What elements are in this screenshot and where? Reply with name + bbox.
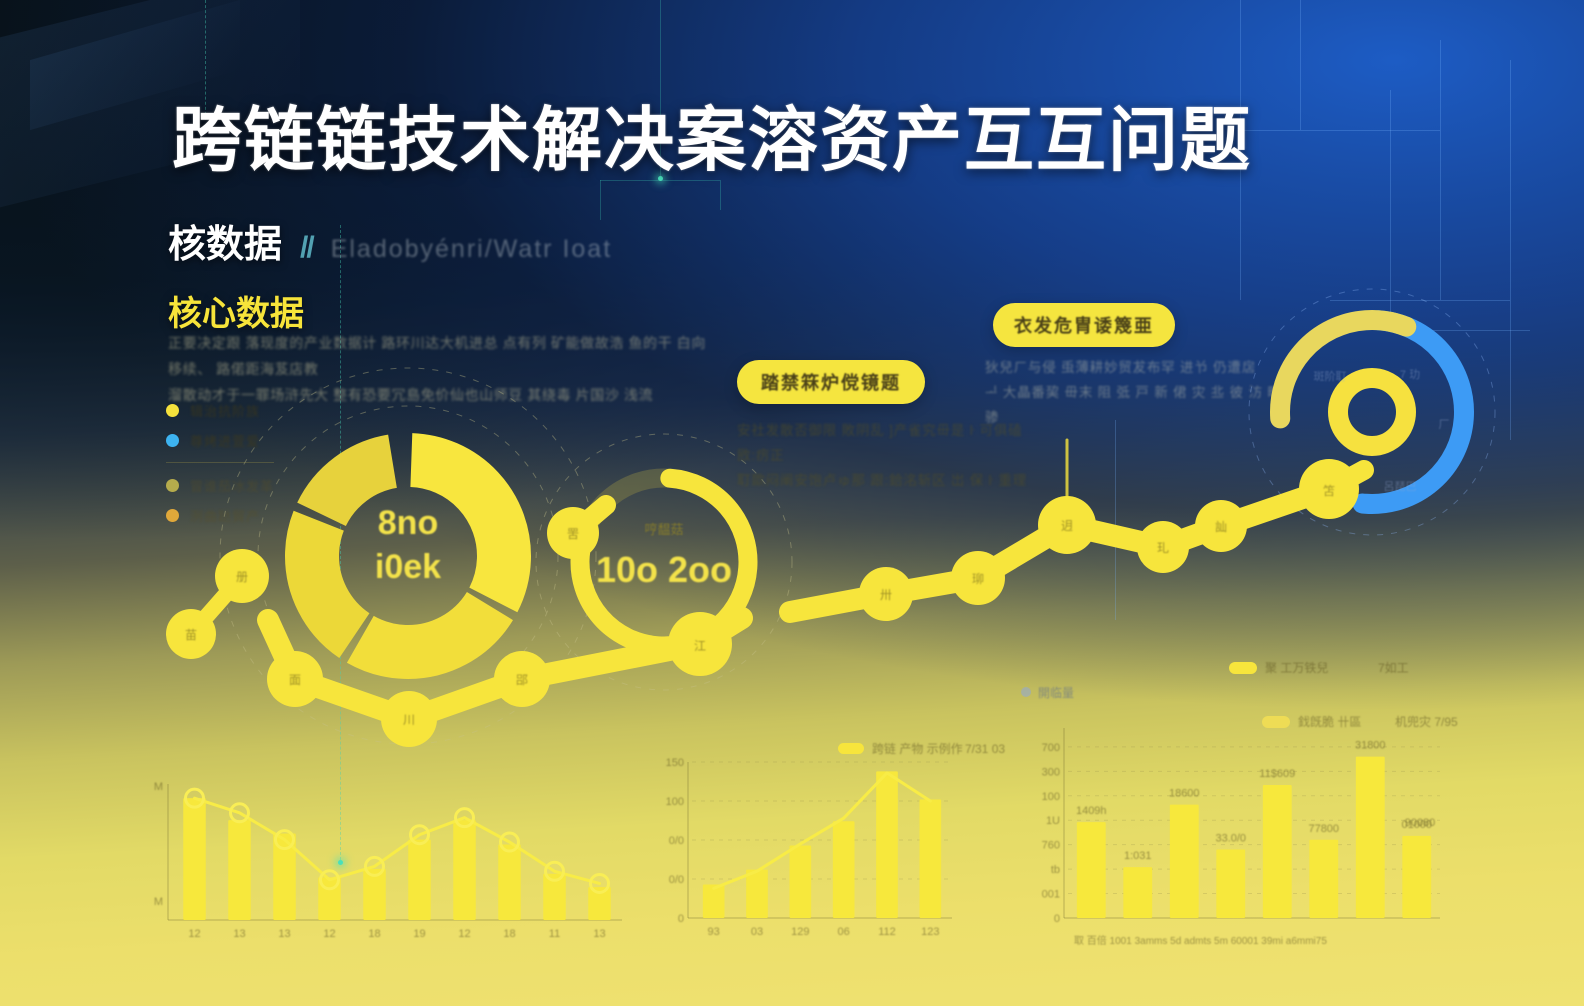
x-tick-label: 06: [838, 926, 850, 938]
y-tick-label: 0: [678, 913, 684, 925]
network-node-glyph: 罟: [567, 527, 579, 541]
corner-marker-icon: [1021, 687, 1031, 697]
network-node-glyph: 卅: [880, 588, 892, 602]
ring-center-value: 10o 2oo: [596, 549, 732, 590]
x-tick-label: 13: [233, 928, 245, 940]
bar-data-label: 31800: [1355, 740, 1386, 752]
gauge-tick-label-0: 斑阶耵: [1314, 369, 1347, 383]
infographic-artwork: 8no i0ek 哼馧菇 10o 2oo 斑阶耵 7 玏 厂 呂琵巴: [0, 0, 1584, 1006]
y-tick-label: 300: [1042, 766, 1060, 778]
asset-share-donut[interactable]: 8no i0ek: [309, 457, 508, 656]
y-tick-label: 1U: [1046, 815, 1060, 827]
y-axis-bottom-label: M: [154, 896, 163, 908]
bar-data-label: 18600: [1169, 788, 1200, 800]
x-tick-label: 123: [921, 926, 939, 938]
network-node-glyph: 訕: [1215, 519, 1227, 534]
bar[interactable]: [1216, 850, 1245, 918]
network-node-glyph: 川: [403, 713, 415, 727]
bar[interactable]: [920, 799, 942, 918]
x-tick-label: 11: [549, 928, 560, 940]
network-node-glyph: 玌: [1157, 541, 1169, 555]
legend-swatch-icon: [1262, 716, 1290, 728]
monthly-volume-combo[interactable]: M M 12131312181912181113: [154, 781, 622, 940]
legend-label-primary: 聚 工万铁兒: [1265, 661, 1328, 675]
corner-label: 開临量: [1038, 686, 1074, 700]
x-tick-label: 12: [458, 928, 470, 940]
network-node-glyph: 笘: [1323, 483, 1335, 498]
network-node-glyph: 苗: [185, 628, 197, 642]
bar[interactable]: [408, 840, 431, 920]
network-node-glyph: 珋: [972, 572, 984, 586]
network-node-glyph: 迌: [1061, 519, 1073, 533]
network-node-glyph: 郘: [516, 673, 528, 687]
bar[interactable]: [1309, 840, 1338, 918]
bar[interactable]: [833, 821, 855, 918]
trend-line: [195, 798, 600, 883]
y-tick-label: tb: [1051, 864, 1060, 876]
x-tick-label: 93: [708, 926, 720, 938]
donut-center-value-2: i0ek: [375, 548, 441, 586]
legend-label: 跨链 产物 示例作: [872, 741, 963, 756]
bar[interactable]: [1123, 867, 1152, 918]
bar[interactable]: [1077, 822, 1106, 918]
bar[interactable]: [453, 820, 476, 920]
network-node-glyph: 册: [236, 570, 248, 584]
bar[interactable]: [498, 844, 521, 920]
y-tick-label: 0/0: [669, 874, 684, 886]
y-tick-label: 150: [666, 757, 684, 769]
donut-center-value-1: 8no: [378, 504, 438, 542]
bar[interactable]: [1263, 785, 1292, 918]
x-tick-label: 03: [751, 926, 763, 938]
network-node-glyph: 江: [694, 639, 706, 653]
bar-data-label: 01000: [1401, 819, 1432, 831]
y-tick-label: 760: [1042, 840, 1060, 852]
bar[interactable]: [1170, 805, 1199, 918]
bar[interactable]: [746, 870, 768, 918]
gauge-tick-label-1: 7 玏: [1400, 367, 1420, 381]
legend-label-secondary: 鈛旣脆 卄區: [1298, 714, 1361, 729]
bar[interactable]: [1402, 836, 1431, 918]
bar[interactable]: [183, 798, 206, 920]
y-tick-label: 100: [1042, 791, 1060, 803]
legend-swatch-icon: [1229, 662, 1257, 674]
x-tick-label: 12: [188, 928, 200, 940]
legend-value-secondary: 机兜灾 7/95: [1395, 714, 1458, 729]
bar-data-label: 1409h: [1076, 805, 1107, 817]
y-tick-label: 0: [1054, 913, 1060, 925]
x-tick-label: 129: [791, 926, 809, 938]
legend-swatch-icon: [838, 743, 864, 754]
bar[interactable]: [790, 845, 812, 918]
x-tick-label: 112: [878, 926, 896, 938]
bar-data-label: 33.0/0: [1215, 833, 1246, 845]
bar-data-label: 77800: [1308, 823, 1339, 835]
gauge-inner-ring: [1338, 378, 1406, 446]
x-tick-label: 13: [278, 928, 290, 940]
bar-data-label: 11$609: [1259, 768, 1295, 780]
footer-note: 取 百倍 1001 3amms 5d admts 5m 60001 39mi a…: [1074, 934, 1327, 947]
x-tick-label: 18: [368, 928, 380, 940]
y-tick-label: 0/0: [669, 835, 684, 847]
growth-trend-bars[interactable]: 跨链 产物 示例作 7/31 03 00/00/0100150930312906…: [666, 741, 1006, 938]
ring-center-sub: 哼馧菇: [644, 522, 683, 537]
x-tick-label: 19: [413, 928, 425, 940]
bar-data-label: 1:031: [1124, 850, 1152, 862]
y-axis-top-label: M: [154, 781, 163, 793]
legend-value: 7/31 03: [965, 742, 1005, 756]
gauge-tick-label-3: 呂琵巴: [1384, 480, 1417, 493]
asset-distribution-bars[interactable]: 聚 工万铁兒 7如工 鈛旣脆 卄區 机兜灾 7/95 開临量 90080 000…: [1021, 660, 1458, 925]
y-tick-label: 001: [1042, 889, 1060, 901]
bar[interactable]: [228, 820, 251, 920]
x-tick-label: 12: [323, 928, 335, 940]
legend-value-primary: 7如工: [1378, 660, 1409, 675]
x-tick-label: 13: [593, 928, 605, 940]
network-node-glyph: 面: [289, 673, 301, 687]
y-tick-label: 700: [1042, 742, 1060, 754]
bar[interactable]: [876, 771, 898, 918]
y-tick-label: 100: [666, 796, 684, 808]
gauge-tick-label-2: 厂: [1439, 419, 1450, 431]
bar[interactable]: [1356, 757, 1385, 918]
x-tick-label: 18: [503, 928, 515, 940]
infographic-poster: 跨链链技术解决案溶资产互互问题 核数据 // Eladobyénri/Watr …: [0, 0, 1584, 1006]
